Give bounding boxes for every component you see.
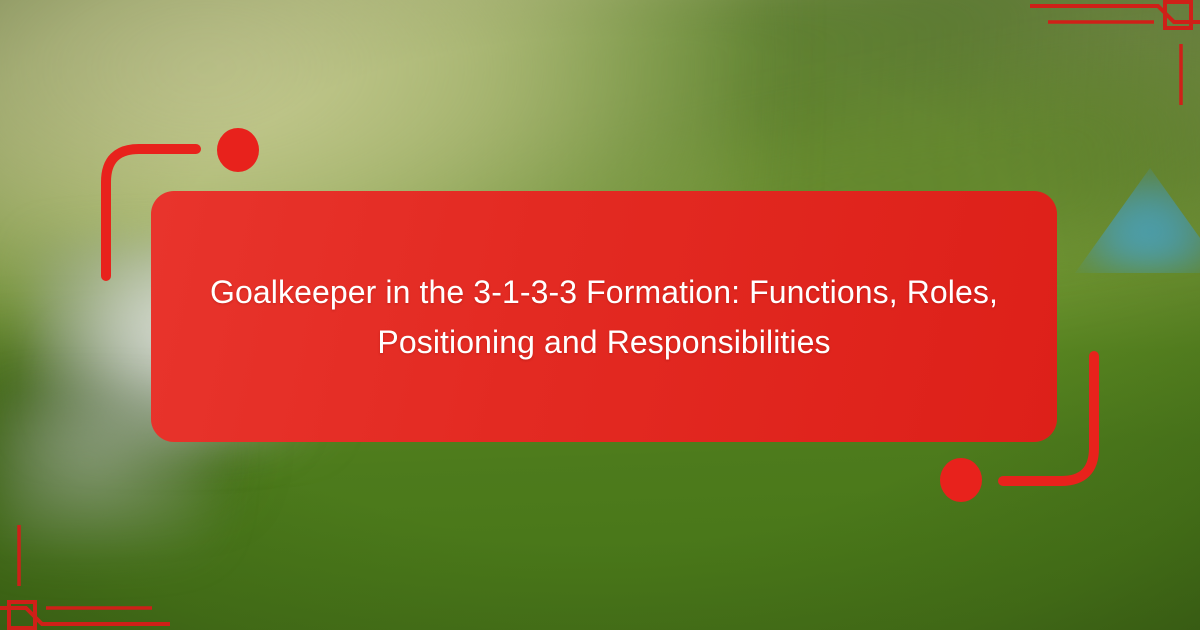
dot-accent-top-left-icon [217,128,259,172]
dot-accent-bottom-right-icon [940,458,982,502]
title-card: Goalkeeper in the 3-1-3-3 Formation: Fun… [151,191,1057,442]
circuit-corner-bottom-left-icon [0,525,170,630]
page-title: Goalkeeper in the 3-1-3-3 Formation: Fun… [205,267,1003,367]
circuit-corner-top-right-icon [1030,0,1200,105]
share-card-canvas: Goalkeeper in the 3-1-3-3 Formation: Fun… [0,0,1200,630]
